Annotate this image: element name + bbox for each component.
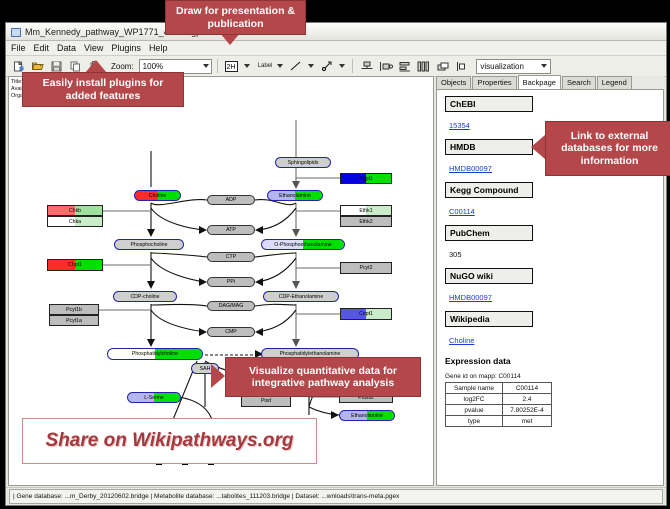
table-cell-value: 7.80252E-4 [503,405,552,416]
gene-node-pcyt1b[interactable]: Pcyt1b [49,304,99,315]
metabolite-node-ethanolamine[interactable]: Ethanolamine [267,190,323,201]
node-label: Chkb [69,208,81,214]
db-link-nugo[interactable]: HMDB00097 [449,293,492,302]
toolbar-separator [217,59,218,73]
app-icon [10,26,21,37]
cofactor-node[interactable]: ADP [207,195,255,205]
gene-node-chkb[interactable]: Chkb [47,205,103,216]
tab-search[interactable]: Search [562,76,596,89]
align-top-icon[interactable] [358,58,375,75]
toolbar-separator [352,59,353,73]
node-label: SAH [200,366,211,372]
cofactor-node[interactable]: ATP [207,225,255,235]
metabolite-node-sphingolipids[interactable]: Sphingolipids [275,157,331,168]
node-label: Sgpl1 [359,176,372,182]
node-label: O-Phosphoethanolamine [274,242,331,248]
cofactor-node[interactable]: CMP [207,327,255,337]
visualization-combo[interactable]: visualization [476,59,551,74]
tab-legend[interactable]: Legend [597,76,632,89]
tab-properties[interactable]: Properties [472,76,516,89]
metabolite-node-choline[interactable]: Choline [134,190,181,201]
table-cell-key: log2FC [446,394,503,405]
callout-draw-for-publication: Draw for presentation & publication [165,0,306,35]
metabolite-node-o-phosphoethanolamine[interactable]: O-Phosphoethanolamine [261,239,345,250]
node-label: Ethk1 [359,208,372,214]
align-left-icon[interactable] [377,58,394,75]
gene-node-pcyt1a[interactable]: Pcyt1a [49,315,99,326]
line-icon[interactable] [287,58,304,75]
node-label: Choline [149,193,167,199]
node-label: Pcyt1b [66,307,82,313]
distribute-icon[interactable] [415,58,432,75]
node-label: L-Serine [144,395,164,401]
db-link-hmdb[interactable]: HMDB00097 [449,164,492,173]
gene-node-chpt1[interactable]: Chpt1 [47,259,103,271]
visualization-value: visualization [480,62,524,71]
metabolite-node-l-serine-left[interactable]: L-Serine [127,392,181,403]
metabolite-node-ethanolamine-right[interactable]: Ethanolamine [339,410,395,421]
db-link-wikipedia[interactable]: Choline [449,336,474,345]
metabolite-node-cdp-choline[interactable]: CDP-choline [113,291,177,302]
metabolite-node-phosphocholine[interactable]: Phosphocholine [114,239,184,250]
node-label: Ethk2 [359,219,372,225]
label-tool-label[interactable]: Label [258,63,273,69]
gene-node-cept1[interactable]: Cept1 [340,308,392,320]
gene-node-ethk1[interactable]: Ethk1 [340,205,392,216]
menu-item-help[interactable]: Help [149,43,168,53]
zoom-value: 100% [143,62,163,71]
db-header-nugo: NuGO wiki [445,268,533,284]
gene-node-chka[interactable]: Chka [47,216,103,227]
table-row: Sample name C00114 [446,383,552,394]
expression-data-heading: Expression data [445,356,663,366]
table-row: pvalue 7.80252E-4 [446,405,552,416]
table-cell-value: met [503,416,552,427]
node-label: CDP-Ethanolamine [279,294,323,300]
node-label: CDP-choline [130,294,159,300]
node-label: Phosphatidylcholine [132,351,178,357]
table-row: log2FC 2.4 [446,394,552,405]
table-cell-key: type [446,416,503,427]
callout-easily-install-plugins: Easily install plugins for added feature… [22,72,184,107]
callout-share-wikipathways: Share on Wikipathways.org [22,418,317,464]
table-cell-value: 2.4 [503,394,552,405]
chevron-down-icon [541,64,547,68]
gene-node-ethk2[interactable]: Ethk2 [340,216,392,227]
tab-objects[interactable]: Objects [436,76,471,89]
chevron-down-icon [203,64,209,68]
table-cell-value: C00114 [503,383,552,394]
expression-table: Sample name C00114 log2FC 2.4 pvalue 7.8… [445,382,552,427]
callout-arrow-right [211,364,225,388]
node-label: Ethanolamine [351,413,383,419]
db-link-kegg[interactable]: C00114 [449,207,475,216]
node-label: Chpt1 [68,262,82,268]
db-header-pubchem: PubChem [445,225,533,241]
menu-item-data[interactable]: Data [57,43,76,53]
menu-item-file[interactable]: File [11,43,26,53]
gene-node-pcyt2[interactable]: Pcyt2 [340,262,392,274]
table-cell-key: Sample name [446,383,503,394]
table-cell-key: pvalue [446,405,503,416]
status-bar: | Gene database: ...m_Derby_20120602.bri… [6,487,666,505]
callout-visualize-quantitative-data: Visualize quantitative data for integrat… [225,357,421,397]
chevron-down-icon[interactable] [277,64,283,68]
cofactor-node[interactable]: DAG/MAG [207,301,255,311]
stack-icon[interactable] [396,58,413,75]
side-panel-tabs: Objects Properties Backpage Search Legen… [436,76,664,90]
data-node-icon[interactable]: 2H [223,58,240,75]
title-bar: Mm_Kennedy_pathway_WP1771_45176.gpml [6,23,666,41]
db-header-wikipedia: Wikipedia [445,311,533,327]
callout-arrow-left [531,135,545,159]
metabolite-node-cdp-ethanolamine[interactable]: CDP-Ethanolamine [263,291,339,302]
callout-link-external-databases: Link to external databases for more info… [545,121,670,176]
screenshot-root: Mm_Kennedy_pathway_WP1771_45176.gpml Fil… [0,0,670,509]
table-row: type met [446,416,552,427]
status-bar-text: | Gene database: ...m_Derby_20120602.bri… [9,489,663,504]
order-back-icon[interactable] [434,58,451,75]
chevron-down-icon[interactable] [308,64,314,68]
tab-backpage[interactable]: Backpage [518,75,561,89]
share-text: Share on Wikipathways.org [46,430,294,452]
chevron-down-icon[interactable] [339,64,345,68]
node-label: Sphingolipids [288,160,319,166]
gene-id-line: Gene id on mapp: C00114 [445,373,663,380]
db-header-kegg: Kegg Compound [445,182,533,198]
db-value-pubchem: 305 [449,250,462,259]
menu-item-view[interactable]: View [84,43,103,53]
db-link-chebi[interactable]: 15354 [449,121,470,130]
node-label: Pcyt1a [66,318,82,324]
node-label: Pisd [261,398,271,404]
chevron-down-icon[interactable] [244,64,250,68]
cofactor-node[interactable]: CTP [207,252,255,262]
layer-icon[interactable] [453,58,470,75]
menu-item-plugins[interactable]: Plugins [111,43,141,53]
menu-bar: File Edit Data View Plugins Help [6,41,666,56]
cofactor-node[interactable]: PPi [207,277,255,287]
node-label: Phosphocholine [131,242,168,248]
node-label: Cept1 [359,311,373,317]
metabolite-node-phosphatidylcholine[interactable]: Phosphatidylcholine [107,348,203,360]
gene-node-sgpl1[interactable]: Sgpl1 [340,173,392,184]
node-label: Pcyt2 [360,265,373,271]
node-label: Chka [69,219,81,225]
svg-text:2H: 2H [226,64,235,71]
menu-item-edit[interactable]: Edit [34,43,50,53]
anchor-icon[interactable] [318,58,335,75]
db-header-chebi: ChEBI [445,96,533,112]
node-label: Ethanolamine [279,193,311,199]
zoom-label: Zoom: [111,62,134,71]
db-header-hmdb: HMDB [445,139,533,155]
